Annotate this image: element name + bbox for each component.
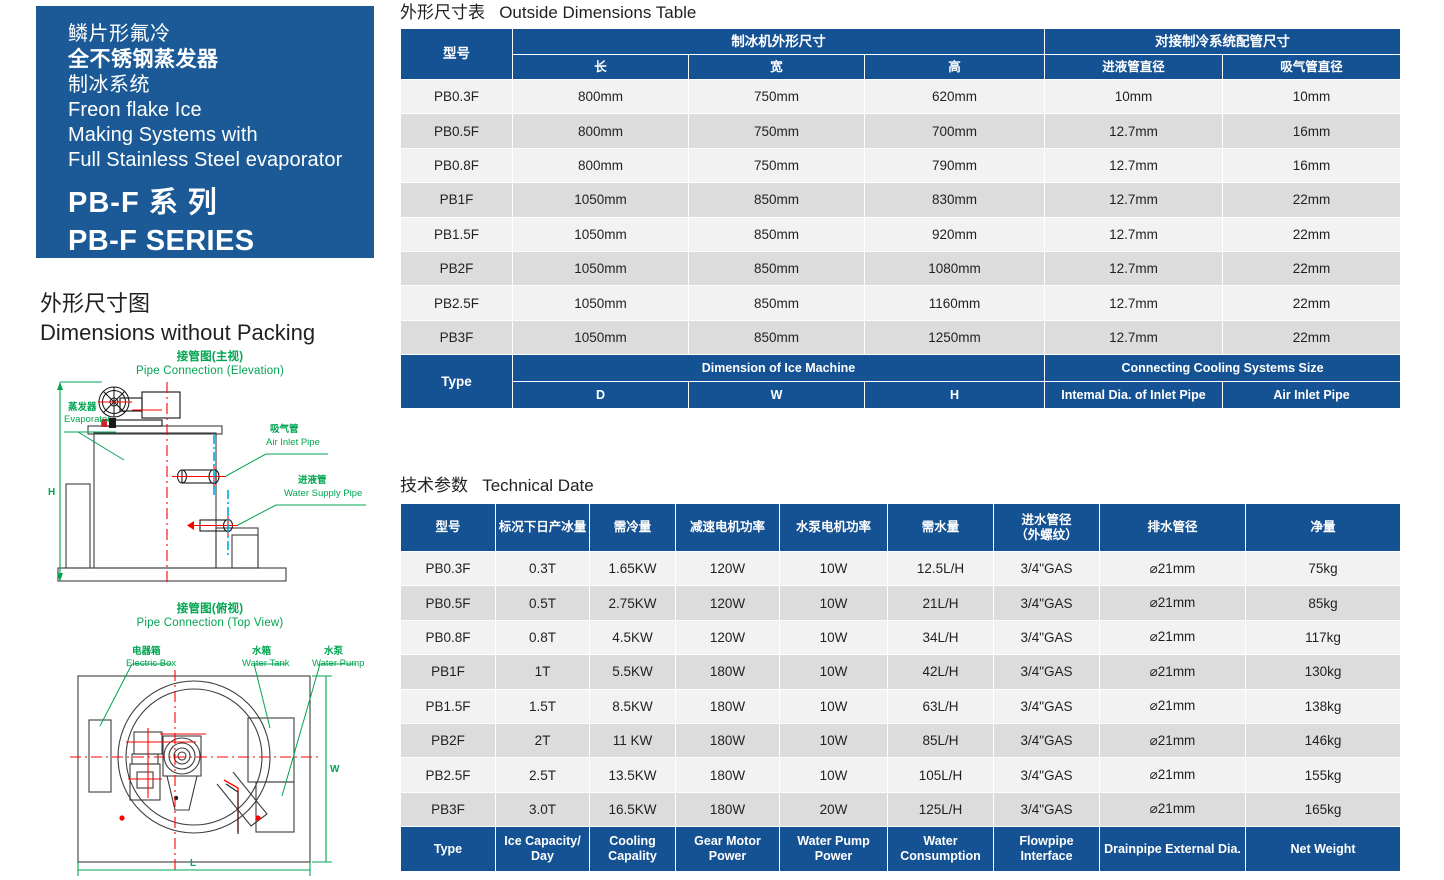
cell-value-2: 180W bbox=[676, 758, 780, 792]
cell-value-0: 800mm bbox=[513, 80, 689, 114]
cell-model: PB2.5F bbox=[401, 758, 496, 792]
topview-diagram-svg: L W 电器箱 Electric Box 水箱 Water Tank 水泵 bbox=[36, 632, 384, 878]
cell-value-3: 10W bbox=[780, 723, 888, 757]
footer-type: Type bbox=[401, 355, 513, 409]
cell-value-1: 16.5KW bbox=[590, 792, 676, 826]
cell-value-4: 42L/H bbox=[888, 655, 994, 689]
table-row: PB0.8F0.8T4.5KW120W10W34L/H3/4"GAS⌀21mm1… bbox=[401, 620, 1401, 654]
topview-caption: 接管图(俯视) Pipe Connection (Top View) bbox=[36, 602, 384, 630]
header-col-7: 排水管径 bbox=[1100, 504, 1246, 552]
cell-value-4: 63L/H bbox=[888, 689, 994, 723]
label-air-inlet-cn: 吸气管 bbox=[270, 423, 299, 435]
topview-dim-w: W bbox=[330, 764, 340, 775]
banner-line-1: 鳞片形氟冷 bbox=[68, 22, 374, 47]
cell-value-2: 1250mm bbox=[865, 320, 1045, 354]
cell-value-2: 120W bbox=[676, 586, 780, 620]
cell-value-1: 850mm bbox=[689, 320, 865, 354]
label-electric-box-en: Electric Box bbox=[126, 658, 176, 669]
cell-value-1: 13.5KW bbox=[590, 758, 676, 792]
header-col-2: 高 bbox=[865, 55, 1045, 80]
footer-col-6: Flowpipe Interface bbox=[994, 827, 1100, 872]
table-row: PB1F1T5.5KW180W10W42L/H3/4"GAS⌀21mm130kg bbox=[401, 655, 1401, 689]
label-electric-box-cn: 电器箱 bbox=[132, 645, 161, 657]
banner-series-en: PB-F SERIES bbox=[68, 223, 374, 259]
label-water-pump-cn: 水泵 bbox=[324, 645, 344, 657]
header-group-ice-machine: 制冰机外形尺寸 bbox=[513, 29, 1045, 55]
cell-value-5: 3/4"GAS bbox=[994, 792, 1100, 826]
cell-value-3: 10W bbox=[780, 655, 888, 689]
cell-value-3: 12.7mm bbox=[1045, 320, 1223, 354]
cell-value-7: 155kg bbox=[1246, 758, 1401, 792]
right-column: 外形尺寸表 Outside Dimensions Table 型号制冰机外形尺寸… bbox=[392, 0, 1444, 880]
cell-model: PB3F bbox=[401, 320, 513, 354]
elevation-caption: 接管图(主视) Pipe Connection (Elevation) bbox=[36, 350, 384, 378]
label-evaporator-en: Evaporator bbox=[64, 414, 110, 425]
footer-group-ice-machine: Dimension of Ice Machine bbox=[513, 355, 1045, 382]
cell-value-3: 12.7mm bbox=[1045, 217, 1223, 251]
dimensions-heading-en: Dimensions without Packing bbox=[40, 318, 380, 347]
elevation-drawing: 接管图(主视) Pipe Connection (Elevation) bbox=[36, 350, 384, 600]
cell-value-2: 620mm bbox=[865, 80, 1045, 114]
cell-value-0: 1.5T bbox=[496, 689, 590, 723]
label-water-pump-en: Water Pump bbox=[312, 658, 364, 669]
cell-value-4: 16mm bbox=[1223, 114, 1401, 148]
cell-value-0: 800mm bbox=[513, 148, 689, 182]
title-banner: 鳞片形氟冷 全不锈钢蒸发器 制冰系统 Freon flake Ice Makin… bbox=[36, 6, 374, 258]
header-col-5: 需水量 bbox=[888, 504, 994, 552]
cell-value-3: 10W bbox=[780, 552, 888, 586]
table-row: PB1.5F1.5T8.5KW180W10W63L/H3/4"GAS⌀21mm1… bbox=[401, 689, 1401, 723]
cell-value-4: 125L/H bbox=[888, 792, 994, 826]
cell-value-7: 165kg bbox=[1246, 792, 1401, 826]
cell-value-6: ⌀21mm bbox=[1100, 552, 1246, 586]
header-group-cooling-pipe: 对接制冷系统配管尺寸 bbox=[1045, 29, 1401, 55]
dimensions-table-title-cn: 外形尺寸表 bbox=[400, 3, 485, 22]
table-row: PB0.3F0.3T1.65KW120W10W12.5L/H3/4"GAS⌀21… bbox=[401, 552, 1401, 586]
cell-value-7: 130kg bbox=[1246, 655, 1401, 689]
cell-value-3: 12.7mm bbox=[1045, 251, 1223, 285]
cell-value-5: 3/4"GAS bbox=[994, 552, 1100, 586]
cell-value-1: 750mm bbox=[689, 114, 865, 148]
cell-value-4: 34L/H bbox=[888, 620, 994, 654]
cell-value-4: 22mm bbox=[1223, 183, 1401, 217]
cell-value-3: 10W bbox=[780, 689, 888, 723]
header-col-6: 进水管径（外螺纹） bbox=[994, 504, 1100, 552]
banner-line-6: Full Stainless Steel evaporator bbox=[68, 148, 374, 173]
cell-value-0: 1050mm bbox=[513, 320, 689, 354]
cell-value-4: 105L/H bbox=[888, 758, 994, 792]
cell-value-2: 1160mm bbox=[865, 286, 1045, 320]
cell-value-4: 10mm bbox=[1223, 80, 1401, 114]
table-row: PB3F3.0T16.5KW180W20W125L/H3/4"GAS⌀21mm1… bbox=[401, 792, 1401, 826]
cell-value-0: 3.0T bbox=[496, 792, 590, 826]
cell-value-4: 21L/H bbox=[888, 586, 994, 620]
cell-value-5: 3/4"GAS bbox=[994, 620, 1100, 654]
cell-value-0: 1T bbox=[496, 655, 590, 689]
cell-model: PB2.5F bbox=[401, 286, 513, 320]
cell-value-5: 3/4"GAS bbox=[994, 689, 1100, 723]
cell-model: PB1.5F bbox=[401, 217, 513, 251]
cell-value-0: 800mm bbox=[513, 114, 689, 148]
technical-table-title-en: Technical Date bbox=[482, 476, 594, 495]
footer-col-1: W bbox=[689, 382, 865, 409]
cell-value-3: 10W bbox=[780, 758, 888, 792]
table-row: PB2F2T11 KW180W10W85L/H3/4"GAS⌀21mm146kg bbox=[401, 723, 1401, 757]
cell-value-0: 1050mm bbox=[513, 217, 689, 251]
cell-value-5: 3/4"GAS bbox=[994, 758, 1100, 792]
cell-value-5: 3/4"GAS bbox=[994, 655, 1100, 689]
cell-value-6: ⌀21mm bbox=[1100, 586, 1246, 620]
cell-value-7: 138kg bbox=[1246, 689, 1401, 723]
cell-model: PB2F bbox=[401, 251, 513, 285]
table-row: PB1F1050mm850mm830mm12.7mm22mm bbox=[401, 183, 1401, 217]
banner-series-cn: PB-F 系 列 bbox=[68, 183, 374, 223]
cell-value-0: 0.8T bbox=[496, 620, 590, 654]
cell-value-1: 4.5KW bbox=[590, 620, 676, 654]
header-model: 型号 bbox=[401, 29, 513, 80]
cell-value-1: 1.65KW bbox=[590, 552, 676, 586]
cell-value-6: ⌀21mm bbox=[1100, 655, 1246, 689]
table-row: PB0.5F800mm750mm700mm12.7mm16mm bbox=[401, 114, 1401, 148]
table-row: PB2F1050mm850mm1080mm12.7mm22mm bbox=[401, 251, 1401, 285]
elevation-dim-h: H bbox=[48, 487, 55, 498]
cell-value-1: 2.75KW bbox=[590, 586, 676, 620]
technical-data-table: 型号标况下日产冰量需冷量减速电机功率水泵电机功率需水量进水管径（外螺纹）排水管径… bbox=[400, 503, 1401, 872]
topview-caption-cn: 接管图(俯视) bbox=[36, 602, 384, 616]
footer-group-cooling: Connecting Cooling Systems Size bbox=[1045, 355, 1401, 382]
cell-value-4: 16mm bbox=[1223, 148, 1401, 182]
header-col-0: 型号 bbox=[401, 504, 496, 552]
cell-value-3: 12.7mm bbox=[1045, 183, 1223, 217]
cell-value-6: ⌀21mm bbox=[1100, 792, 1246, 826]
table-header-row: 型号标况下日产冰量需冷量减速电机功率水泵电机功率需水量进水管径（外螺纹）排水管径… bbox=[401, 504, 1401, 552]
cell-value-6: ⌀21mm bbox=[1100, 723, 1246, 757]
technical-table-title-cn: 技术参数 bbox=[400, 476, 468, 495]
cell-value-4: 22mm bbox=[1223, 251, 1401, 285]
table-row: PB2.5F2.5T13.5KW180W10W105L/H3/4"GAS⌀21m… bbox=[401, 758, 1401, 792]
cell-value-7: 146kg bbox=[1246, 723, 1401, 757]
footer-col-3: Gear Motor Power bbox=[676, 827, 780, 872]
cell-value-2: 120W bbox=[676, 552, 780, 586]
outside-dimensions-table: 型号制冰机外形尺寸对接制冷系统配管尺寸长宽高进液管直径吸气管直径PB0.3F80… bbox=[400, 28, 1401, 409]
cell-value-0: 1050mm bbox=[513, 251, 689, 285]
table-row: PB3F1050mm850mm1250mm12.7mm22mm bbox=[401, 320, 1401, 354]
cell-value-3: 10W bbox=[780, 586, 888, 620]
dimensions-table-title-en: Outside Dimensions Table bbox=[499, 3, 696, 22]
dimensions-table-title: 外形尺寸表 Outside Dimensions Table bbox=[400, 2, 696, 24]
cell-value-6: ⌀21mm bbox=[1100, 758, 1246, 792]
table-header-row: 型号制冰机外形尺寸对接制冷系统配管尺寸 bbox=[401, 29, 1401, 55]
cell-value-5: 3/4"GAS bbox=[994, 723, 1100, 757]
cell-value-1: 850mm bbox=[689, 286, 865, 320]
cell-value-2: 180W bbox=[676, 723, 780, 757]
cell-value-0: 0.5T bbox=[496, 586, 590, 620]
cell-value-4: 85L/H bbox=[888, 723, 994, 757]
footer-col-4: Water Pump Power bbox=[780, 827, 888, 872]
topview-caption-en: Pipe Connection (Top View) bbox=[36, 616, 384, 630]
cell-model: PB0.3F bbox=[401, 80, 513, 114]
technical-table-title: 技术参数 Technical Date bbox=[400, 475, 594, 497]
cell-model: PB0.8F bbox=[401, 620, 496, 654]
cell-value-2: 790mm bbox=[865, 148, 1045, 182]
header-col-0: 长 bbox=[513, 55, 689, 80]
cell-model: PB0.5F bbox=[401, 114, 513, 148]
header-col-1: 标况下日产冰量 bbox=[496, 504, 590, 552]
table-row: PB1.5F1050mm850mm920mm12.7mm22mm bbox=[401, 217, 1401, 251]
topview-drawing: 接管图(俯视) Pipe Connection (Top View) bbox=[36, 602, 384, 878]
left-column: 鳞片形氟冷 全不锈钢蒸发器 制冰系统 Freon flake Ice Makin… bbox=[0, 0, 392, 880]
cell-value-3: 12.7mm bbox=[1045, 114, 1223, 148]
header-col-4: 水泵电机功率 bbox=[780, 504, 888, 552]
banner-line-3: 制冰系统 bbox=[68, 73, 374, 98]
footer-col-1: Ice Capacity/ Day bbox=[496, 827, 590, 872]
cell-value-3: 10W bbox=[780, 620, 888, 654]
cell-value-4: 12.5L/H bbox=[888, 552, 994, 586]
table-row: PB0.8F800mm750mm790mm12.7mm16mm bbox=[401, 148, 1401, 182]
header-col-3: 减速电机功率 bbox=[676, 504, 780, 552]
cell-model: PB1F bbox=[401, 655, 496, 689]
label-air-inlet-en: Air Inlet Pipe bbox=[266, 437, 320, 448]
cell-value-0: 0.3T bbox=[496, 552, 590, 586]
header-col-1: 宽 bbox=[689, 55, 865, 80]
cell-value-4: 22mm bbox=[1223, 217, 1401, 251]
elevation-caption-en: Pipe Connection (Elevation) bbox=[36, 364, 384, 378]
cell-value-7: 117kg bbox=[1246, 620, 1401, 654]
cell-value-2: 920mm bbox=[865, 217, 1045, 251]
cell-value-0: 2T bbox=[496, 723, 590, 757]
cell-value-2: 700mm bbox=[865, 114, 1045, 148]
cell-value-3: 20W bbox=[780, 792, 888, 826]
header-col-3: 进液管直径 bbox=[1045, 55, 1223, 80]
cell-value-1: 11 KW bbox=[590, 723, 676, 757]
cell-value-3: 12.7mm bbox=[1045, 286, 1223, 320]
table-row: PB2.5F1050mm850mm1160mm12.7mm22mm bbox=[401, 286, 1401, 320]
cell-value-3: 10mm bbox=[1045, 80, 1223, 114]
cell-value-6: ⌀21mm bbox=[1100, 689, 1246, 723]
label-evaporator-cn: 蒸发器 bbox=[68, 401, 97, 413]
cell-value-2: 1080mm bbox=[865, 251, 1045, 285]
cell-value-2: 830mm bbox=[865, 183, 1045, 217]
cell-value-5: 3/4"GAS bbox=[994, 586, 1100, 620]
cell-value-1: 5.5KW bbox=[590, 655, 676, 689]
cell-value-1: 850mm bbox=[689, 217, 865, 251]
header-col-8: 净量 bbox=[1246, 504, 1401, 552]
dimensions-heading-cn: 外形尺寸图 bbox=[40, 290, 380, 318]
cell-value-4: 22mm bbox=[1223, 320, 1401, 354]
table-row: PB0.3F800mm750mm620mm10mm10mm bbox=[401, 80, 1401, 114]
footer-col-8: Net Weight bbox=[1246, 827, 1401, 872]
footer-col-2: H bbox=[865, 382, 1045, 409]
label-water-supply-cn: 进液管 bbox=[298, 474, 327, 486]
cell-value-1: 750mm bbox=[689, 148, 865, 182]
cell-value-2: 180W bbox=[676, 689, 780, 723]
cell-value-2: 180W bbox=[676, 792, 780, 826]
cell-value-0: 2.5T bbox=[496, 758, 590, 792]
footer-col-7: Drainpipe External Dia. bbox=[1100, 827, 1246, 872]
label-water-tank-cn: 水箱 bbox=[252, 645, 272, 657]
footer-col-2: Cooling Capality bbox=[590, 827, 676, 872]
footer-col-5: Water Consumption bbox=[888, 827, 994, 872]
cell-value-1: 850mm bbox=[689, 251, 865, 285]
header-col-2: 需冷量 bbox=[590, 504, 676, 552]
topview-dim-l: L bbox=[190, 858, 196, 869]
banner-line-4: Freon flake Ice bbox=[68, 98, 374, 123]
cell-model: PB1F bbox=[401, 183, 513, 217]
cell-value-2: 120W bbox=[676, 620, 780, 654]
cell-value-1: 8.5KW bbox=[590, 689, 676, 723]
label-water-tank-en: Water Tank bbox=[242, 658, 290, 669]
cell-model: PB1.5F bbox=[401, 689, 496, 723]
footer-col-0: D bbox=[513, 382, 689, 409]
cell-model: PB0.5F bbox=[401, 586, 496, 620]
footer-col-0: Type bbox=[401, 827, 496, 872]
cell-value-7: 75kg bbox=[1246, 552, 1401, 586]
cell-value-0: 1050mm bbox=[513, 183, 689, 217]
cell-model: PB2F bbox=[401, 723, 496, 757]
cell-value-0: 1050mm bbox=[513, 286, 689, 320]
cell-value-2: 180W bbox=[676, 655, 780, 689]
table-footer-row: TypeIce Capacity/ DayCooling CapalityGea… bbox=[401, 827, 1401, 872]
cell-model: PB0.3F bbox=[401, 552, 496, 586]
table-footer-subrow: DWHIntemal Dia. of Inlet PipeAir Inlet P… bbox=[401, 382, 1401, 409]
elevation-caption-cn: 接管图(主视) bbox=[36, 350, 384, 364]
cell-value-4: 22mm bbox=[1223, 286, 1401, 320]
dimensions-heading: 外形尺寸图 Dimensions without Packing bbox=[40, 290, 380, 347]
cell-value-1: 750mm bbox=[689, 80, 865, 114]
cell-value-6: ⌀21mm bbox=[1100, 620, 1246, 654]
banner-line-2: 全不锈钢蒸发器 bbox=[68, 47, 374, 73]
banner-line-5: Making Systems with bbox=[68, 123, 374, 148]
header-col-4: 吸气管直径 bbox=[1223, 55, 1401, 80]
cell-value-1: 850mm bbox=[689, 183, 865, 217]
table-footer-row: TypeDimension of Ice MachineConnecting C… bbox=[401, 355, 1401, 382]
footer-col-4: Air Inlet Pipe bbox=[1223, 382, 1401, 409]
table-row: PB0.5F0.5T2.75KW120W10W21L/H3/4"GAS⌀21mm… bbox=[401, 586, 1401, 620]
cell-model: PB0.8F bbox=[401, 148, 513, 182]
footer-col-3: Intemal Dia. of Inlet Pipe bbox=[1045, 382, 1223, 409]
cell-value-3: 12.7mm bbox=[1045, 148, 1223, 182]
cell-value-7: 85kg bbox=[1246, 586, 1401, 620]
elevation-diagram-svg: H 蒸发器 Evaporator 吸气管 Air Inlet Pipe 进液管 … bbox=[36, 380, 384, 600]
cell-model: PB3F bbox=[401, 792, 496, 826]
label-water-supply-en: Water Supply Pipe bbox=[284, 488, 362, 499]
table-subheader-row: 长宽高进液管直径吸气管直径 bbox=[401, 55, 1401, 80]
